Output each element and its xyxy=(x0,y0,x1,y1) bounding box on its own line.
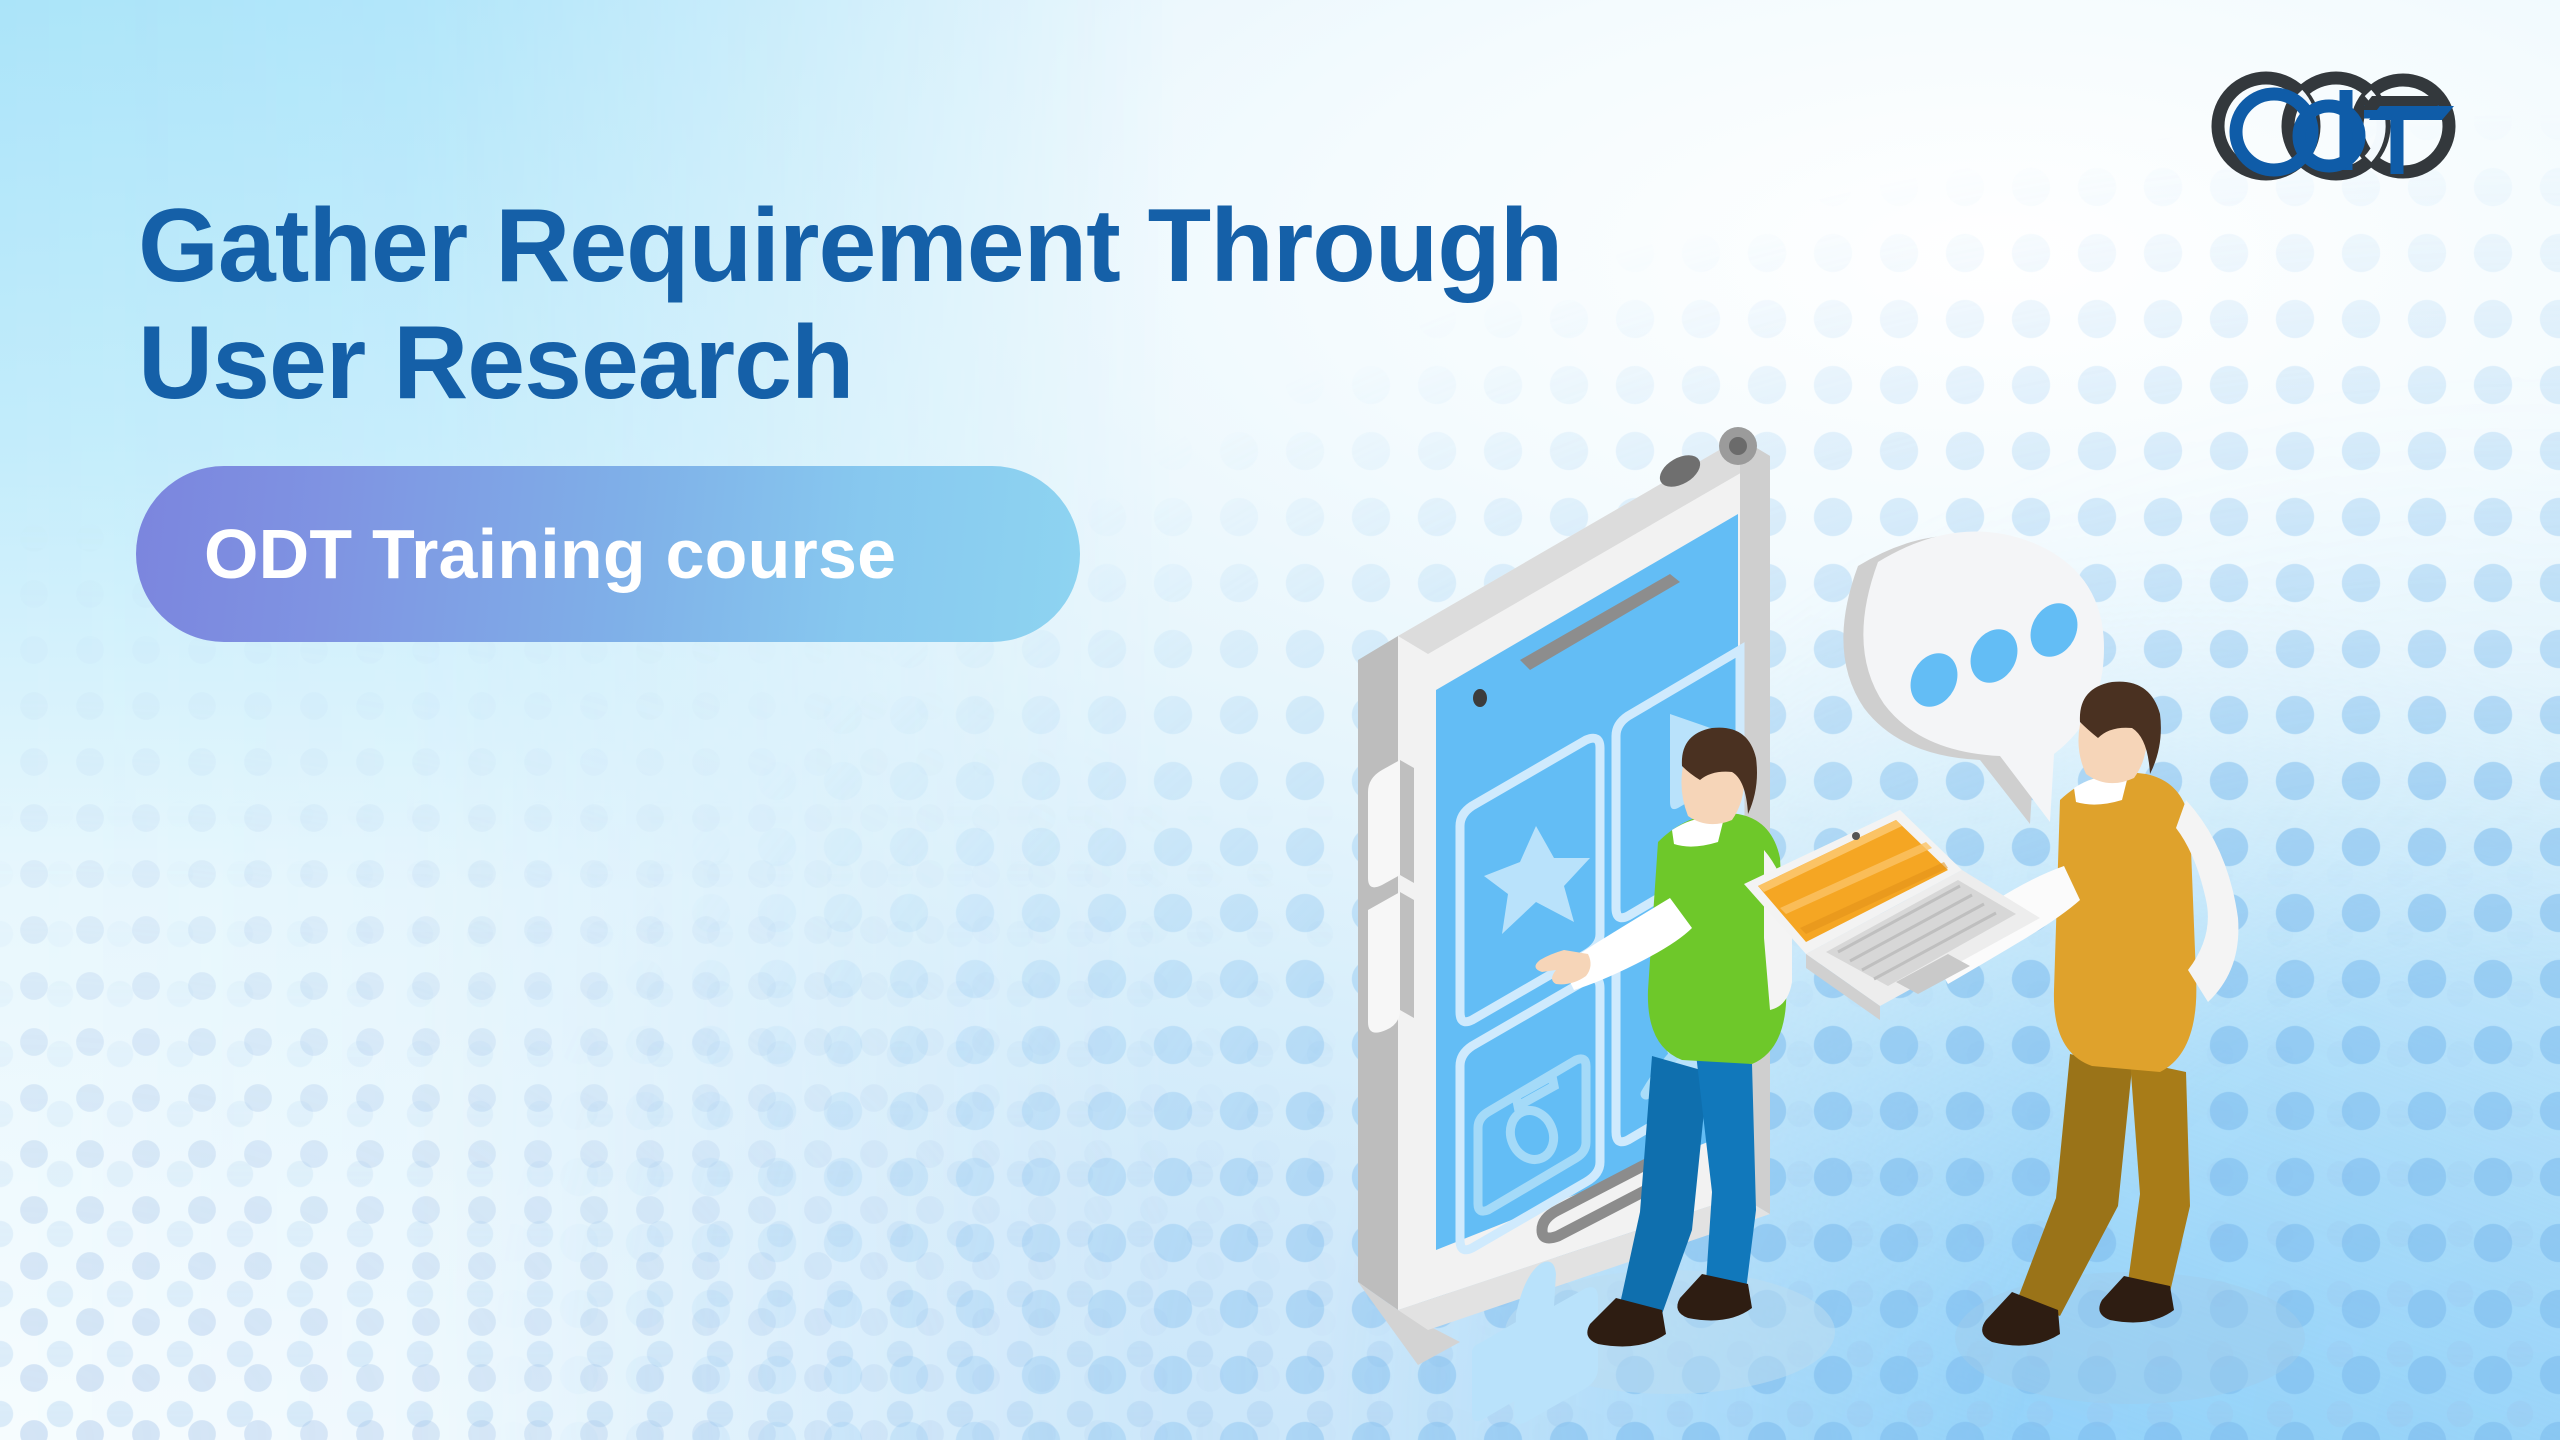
hero-illustration xyxy=(1340,330,2520,1440)
page-title-line-1: Gather Requirement Through xyxy=(138,188,1562,304)
banner-canvas: Gather Requirement Through User Research… xyxy=(0,0,2560,1440)
course-badge-label: ODT Training course xyxy=(204,514,896,594)
speech-bubble xyxy=(1843,532,2104,824)
person-right-shirt xyxy=(2054,772,2196,1072)
person-with-laptop xyxy=(1744,682,2238,1346)
hero-illustration-svg xyxy=(1340,330,2520,1440)
person-right-leg-front xyxy=(2128,1060,2190,1292)
laptop-webcam-icon xyxy=(1852,832,1860,840)
phone-front-camera-icon xyxy=(1473,689,1487,707)
odt-logo-icon xyxy=(2196,48,2464,198)
course-badge[interactable]: ODT Training course xyxy=(136,466,1080,642)
phone-top-camera-lens-icon xyxy=(1729,437,1747,455)
odt-logo[interactable] xyxy=(2196,48,2464,198)
